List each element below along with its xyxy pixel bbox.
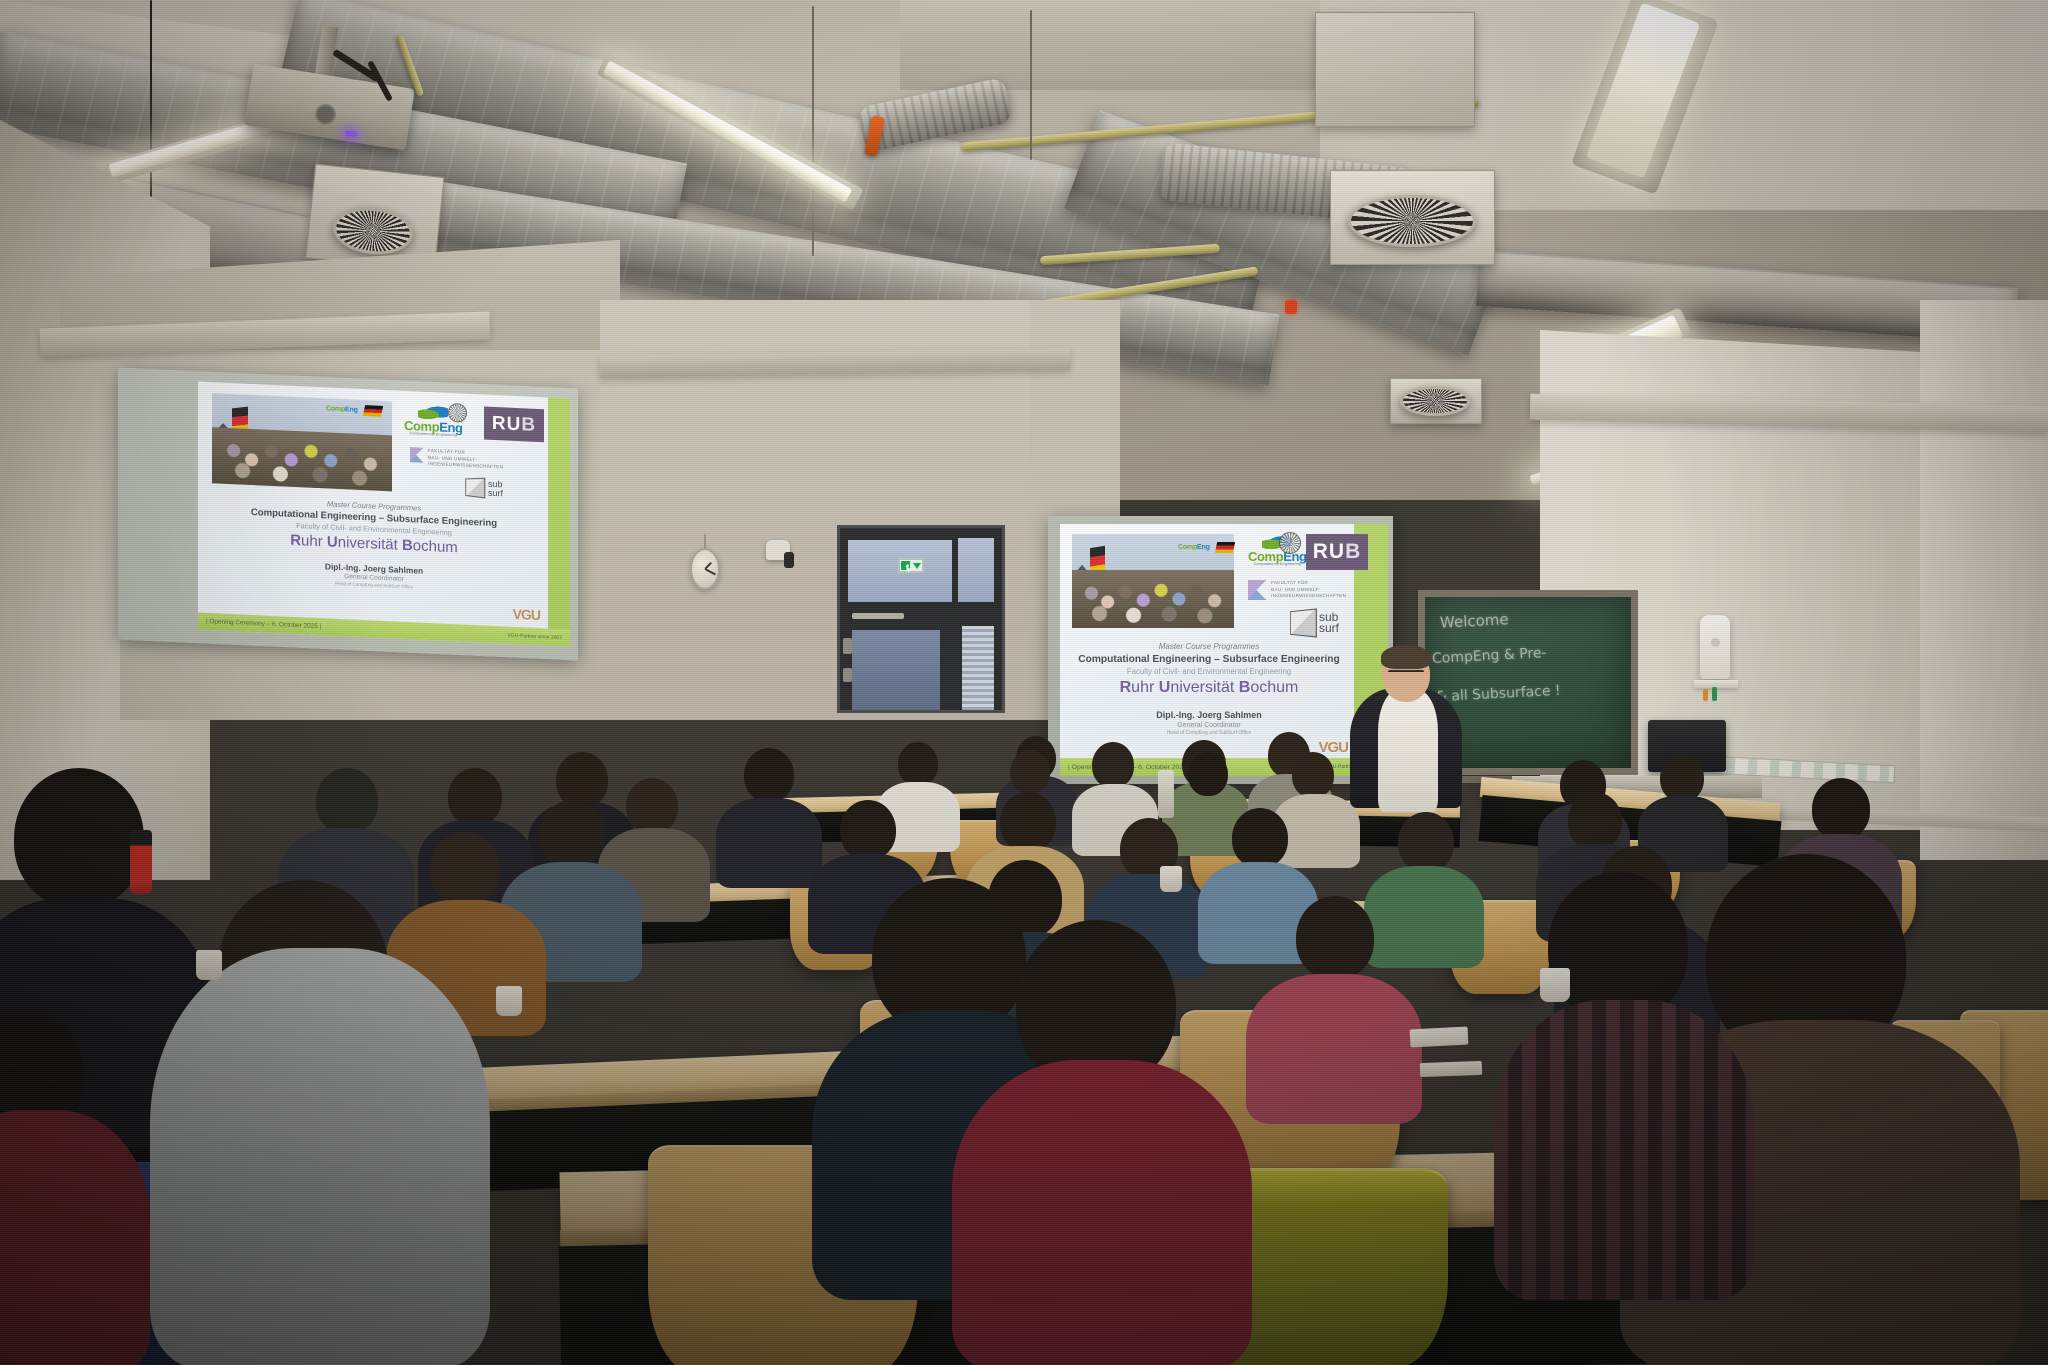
- faculty-logo-block-right: FAKULTÄT FÜR BAU- UND UMWELT- INGENIEURW…: [1248, 580, 1346, 600]
- audience-head-b8: [1660, 754, 1704, 802]
- faculty-line-1-r: FAKULTÄT FÜR: [1271, 580, 1308, 585]
- door-handle-lower[interactable]: [843, 668, 852, 682]
- slide-faculty-right: Faculty of Civil- and Environmental Engi…: [1127, 667, 1291, 676]
- paper-cup-4[interactable]: [1160, 866, 1182, 892]
- compeng-logo-mini: CompEng: [326, 405, 358, 413]
- audience-head-fg-left: [14, 768, 144, 908]
- marker-pen-orange[interactable]: [1703, 689, 1708, 701]
- vgu-logo-right: VGU: [1318, 739, 1348, 756]
- hanging-wire-2: [812, 6, 814, 256]
- faculty-line-2-r: BAU- UND UMWELT-: [1271, 587, 1320, 592]
- audience-head-n1: [316, 768, 378, 834]
- audience-body-m2: [716, 798, 822, 888]
- faculty-line-3: INGENIEURWISSENSCHAFTEN: [428, 461, 503, 469]
- audience-head-m10: [626, 778, 678, 834]
- audience-head-b10: [1010, 750, 1050, 794]
- uni-b-r: B: [1239, 679, 1251, 696]
- subsurf-wordmark-right: sub surf: [1319, 612, 1339, 635]
- audience-head-m6: [1398, 812, 1454, 872]
- camera-lens: [784, 552, 794, 568]
- audience-head-b6: [1292, 752, 1334, 798]
- vgu-logo: VGU: [513, 606, 540, 623]
- marker-pen-green[interactable]: [1712, 687, 1717, 701]
- audience-head-m5: [1232, 808, 1288, 868]
- compeng-suffix: Eng: [345, 406, 358, 414]
- window-blinds: [962, 626, 994, 710]
- door-glass: [852, 630, 940, 710]
- audience-head-m2: [744, 748, 794, 802]
- exit-arrow-icon: [913, 563, 921, 569]
- uni-b: B: [402, 537, 413, 554]
- compeng-suffix-r: Eng: [1197, 544, 1210, 551]
- slide-right-logo-row: CompEng: [1178, 542, 1234, 553]
- chalkboard-line-1: Welcome: [1440, 610, 1509, 632]
- slide-footer-right: VGU-Partner since 2007: [508, 632, 562, 640]
- subsurf-wordmark: sub surf: [488, 480, 503, 498]
- audience-head-b3: [1188, 752, 1228, 796]
- ceiling-slab-center: [900, 0, 1320, 90]
- slide-speaker-role-2-right: Head of CompEng and SubSurf Office: [1167, 730, 1252, 736]
- audience-head-n2: [540, 800, 604, 868]
- door-push-bar[interactable]: [852, 613, 904, 619]
- subsurf-line-2: surf: [488, 487, 503, 498]
- rub-logo: RUB: [484, 407, 544, 443]
- presenter-shirt: [1378, 690, 1438, 812]
- paper-cup-3[interactable]: [1540, 968, 1570, 1002]
- slide-left-green-bar: [548, 397, 570, 646]
- subsurf-logo: sub surf: [464, 478, 503, 499]
- faculty-logo-block: FAKULTÄT FÜR BAU- UND UMWELT- INGENIEURW…: [410, 447, 503, 471]
- audience-head-n6: [430, 832, 500, 906]
- compeng-tagline-right: Computational Engineering: [1254, 563, 1301, 567]
- emergency-exit-sign: [898, 558, 924, 573]
- paper-cup-2[interactable]: [496, 986, 522, 1016]
- photo-group-right: [1072, 570, 1234, 628]
- audience-head-m3: [1000, 792, 1056, 852]
- door-handle[interactable]: [843, 638, 852, 654]
- rub-logo-right: RUB: [1306, 534, 1368, 570]
- hanging-wire-1: [150, 0, 152, 215]
- faculty-icon-right: [1248, 580, 1266, 600]
- slide-programme-right: Computational Engineering – Subsurface E…: [1078, 654, 1340, 665]
- slide-footer-left: | Opening Ceremony – 6. October 2025 |: [206, 618, 321, 630]
- vent-housing-right: [1315, 12, 1475, 127]
- paper-cup-1[interactable]: [196, 950, 222, 980]
- audience-head-m8: [1812, 778, 1870, 840]
- hanging-wire-3: [1030, 10, 1032, 160]
- water-bottle-2[interactable]: [1158, 770, 1174, 818]
- faculty-line-3-r: INGENIEURWISSENSCHAFTEN: [1271, 593, 1346, 598]
- subsurf-line-2-r: surf: [1319, 621, 1339, 635]
- audience-body-fg-hoodie: [150, 948, 490, 1365]
- paper-towel-dispenser[interactable]: [1700, 615, 1730, 679]
- papers-stack[interactable]: [1420, 1061, 1482, 1077]
- slide-university-right: Ruhr Universität Bochum: [1120, 679, 1299, 697]
- audience-head-m7: [1568, 792, 1622, 850]
- faculty-logo-text-right: FAKULTÄT FÜR BAU- UND UMWELT- INGENIEURW…: [1271, 580, 1346, 600]
- audience-head-n4: [1296, 896, 1374, 980]
- transom-glass-right: [958, 538, 994, 602]
- uni-u-r: U: [1159, 679, 1171, 696]
- audience-body-fg-plaid: [1494, 1000, 1754, 1300]
- red-ceiling-marker: [1285, 300, 1297, 314]
- rub-prefix: RU: [492, 412, 521, 435]
- audience-body-n4: [1246, 974, 1422, 1124]
- audience-head-b5: [1092, 742, 1134, 788]
- uni-r-r: R: [1120, 679, 1132, 696]
- faculty-logo-text: FAKULTÄT FÜR BAU- UND UMWELT- INGENIEURW…: [428, 448, 503, 471]
- water-bottle[interactable]: [130, 830, 152, 894]
- uni-niversitat-r: niversität: [1170, 679, 1238, 696]
- rub-suffix-r: B: [1345, 540, 1361, 564]
- compeng-prefix: Comp: [326, 405, 345, 413]
- lecture-hall-photo: CompEng CompEng Computational Engineerin…: [0, 0, 2048, 1365]
- slide-speaker-name-right: Dipl.-Ing. Joerg Sahlmen: [1156, 710, 1262, 720]
- compeng-prefix-r: Comp: [1178, 544, 1197, 551]
- compeng-tagline: Computational Engineering: [410, 432, 457, 438]
- audience-head-m9: [448, 768, 502, 826]
- notepad[interactable]: [1410, 1026, 1469, 1047]
- uni-niversitat: niversität: [338, 534, 402, 554]
- audience-body-fg-center: [952, 1060, 1252, 1365]
- faculty-line-1: FAKULTÄT FÜR: [428, 448, 465, 455]
- uni-uhr-r: uhr: [1131, 679, 1159, 696]
- presenter-hair: [1381, 645, 1431, 669]
- rub-suffix: B: [521, 414, 536, 437]
- uni-uhr: uhr: [301, 532, 327, 550]
- faculty-icon: [410, 447, 423, 463]
- uni-r: R: [290, 532, 301, 549]
- audience-body-m6: [1364, 866, 1484, 968]
- rub-prefix-r: RU: [1313, 540, 1345, 564]
- slide-right: CompEng CompEng Computational Engineerin…: [1060, 524, 1388, 776]
- compeng-logo-mini-right: CompEng: [1178, 544, 1210, 551]
- slide-left: CompEng CompEng Computational Engineerin…: [198, 382, 570, 647]
- ceiling-vent-center: [1400, 386, 1470, 416]
- presenter-glasses: [1388, 670, 1424, 674]
- flag-icon-mini-right: [1214, 542, 1234, 553]
- ceiling-vent-right-inner: [1348, 195, 1476, 247]
- accreditation-seal-icon-right: [1279, 532, 1301, 554]
- subsurf-mark-icon: [465, 478, 485, 499]
- wall-right-column: [1920, 300, 2048, 860]
- audience-head-m1: [556, 752, 608, 808]
- accreditation-seal-icon: [448, 403, 467, 423]
- security-camera: [766, 540, 800, 574]
- uni-u: U: [327, 533, 338, 550]
- subsurf-logo-right: sub surf: [1288, 610, 1339, 636]
- uni-ochum-r: ochum: [1250, 679, 1298, 696]
- running-man-icon: [901, 561, 910, 570]
- flag-icon-mini: [362, 405, 382, 417]
- subsurf-mark-icon-right: [1290, 608, 1317, 637]
- slide-master-line-right: Master Course Programmes: [1159, 642, 1259, 651]
- audience-head-m11: [840, 800, 896, 860]
- audience-body-fg-red: [0, 1110, 150, 1365]
- audience-head-b9: [898, 742, 938, 786]
- photo-group: [212, 427, 392, 491]
- uni-ochum: ochum: [413, 537, 458, 556]
- slide-speaker-role-right: General Coordinator: [1177, 722, 1240, 729]
